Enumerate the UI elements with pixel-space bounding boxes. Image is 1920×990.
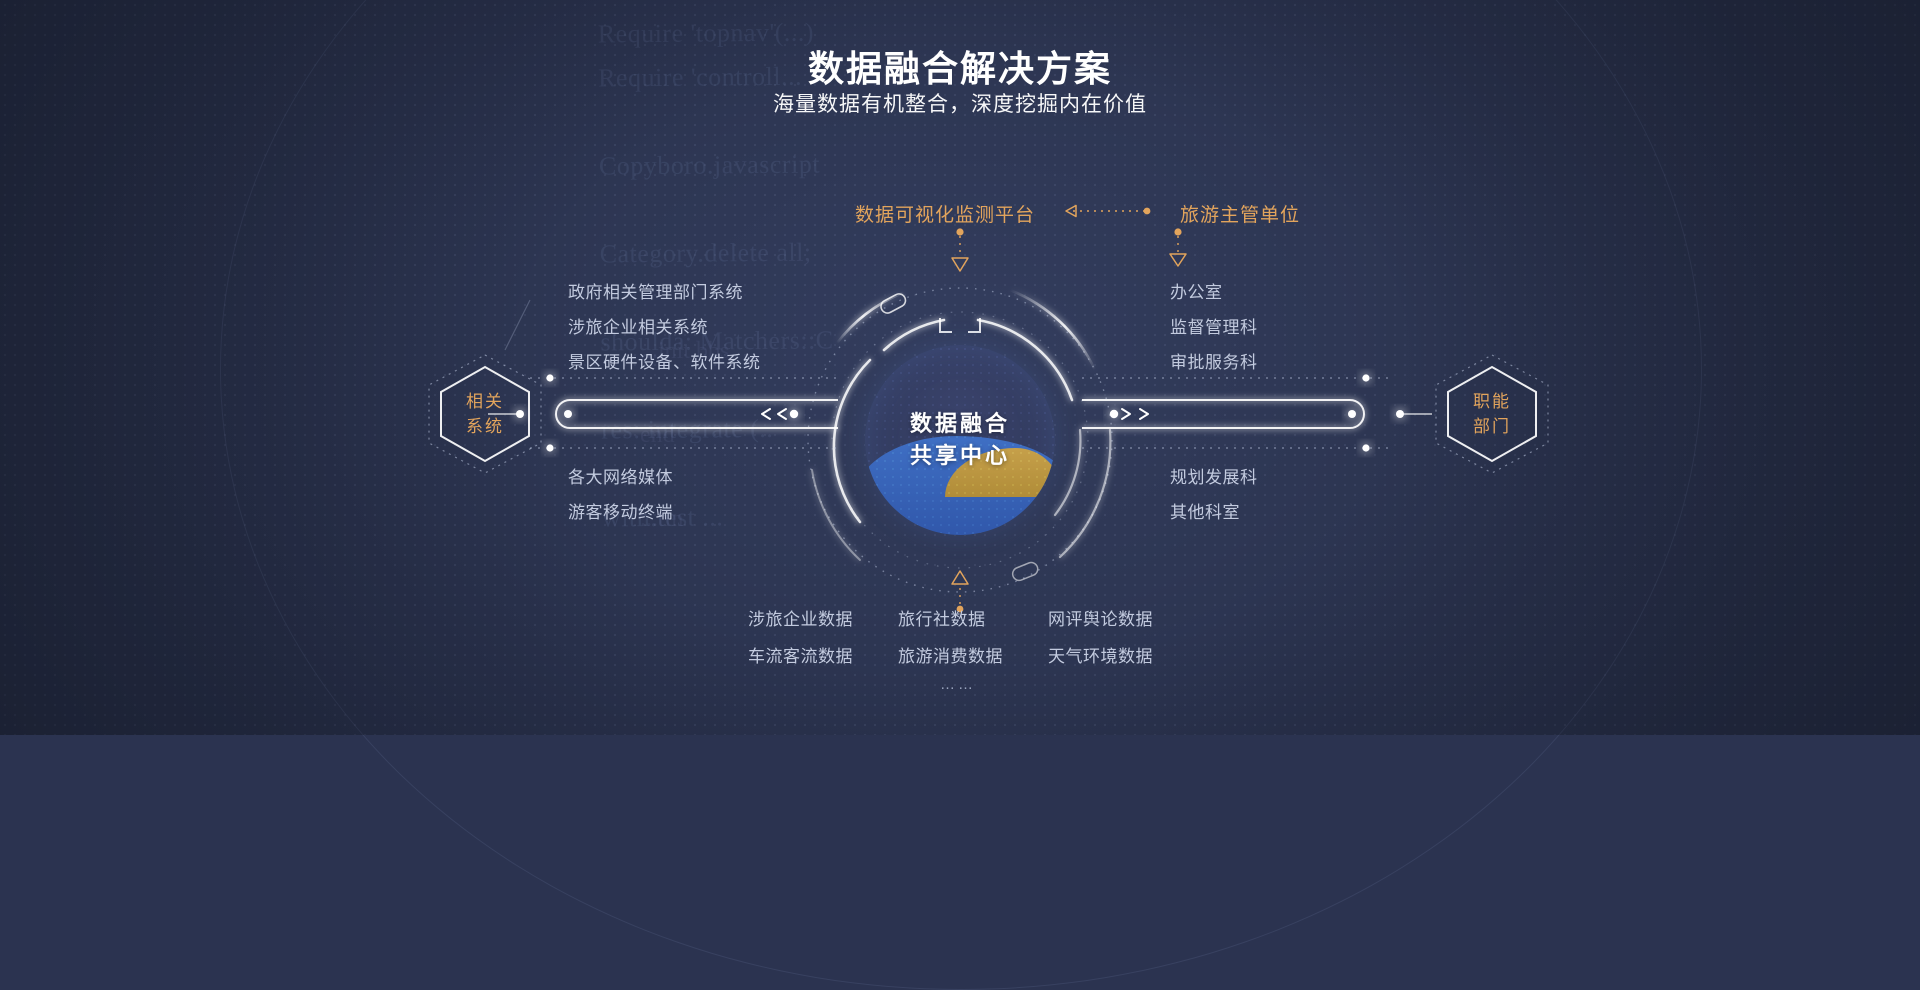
label-right-dept-2: 审批服务科 bbox=[1170, 348, 1258, 373]
label-left-source-2: 景区硬件设备、软件系统 bbox=[568, 348, 761, 373]
core-label-line1: 数据融合 bbox=[910, 408, 1010, 440]
node-label-line1: 职能 bbox=[1473, 389, 1511, 414]
label-bottom-data-r2c1: 旅游消费数据 bbox=[898, 642, 1003, 667]
label-left-source-4: 游客移动终端 bbox=[568, 498, 673, 523]
label-right-dept-4: 其他科室 bbox=[1170, 498, 1240, 523]
label-visualization-platform[interactable]: 数据可视化监测平台 bbox=[855, 200, 1035, 227]
label-right-dept-0: 办公室 bbox=[1170, 278, 1223, 303]
node-label-line2: 部门 bbox=[1473, 414, 1511, 439]
page-title: 数据融合解决方案 bbox=[0, 40, 1920, 92]
node-label-line2: 系统 bbox=[466, 414, 504, 439]
node-label-line1: 相关 bbox=[466, 389, 504, 414]
core-label: 数据融合 共享中心 bbox=[865, 345, 1055, 535]
label-bottom-data-r1c0: 涉旅企业数据 bbox=[748, 605, 853, 630]
label-left-source-1: 涉旅企业相关系统 bbox=[568, 313, 708, 338]
page-subtitle: 海量数据有机整合，深度挖掘内在价值 bbox=[0, 88, 1920, 118]
label-bottom-data-r1c1: 旅行社数据 bbox=[898, 605, 986, 630]
label-tourism-authority[interactable]: 旅游主管单位 bbox=[1180, 200, 1300, 227]
label-bottom-data-r2c2: 天气环境数据 bbox=[1048, 642, 1153, 667]
label-left-source-3: 各大网络媒体 bbox=[568, 463, 673, 488]
label-right-dept-3: 规划发展科 bbox=[1170, 463, 1258, 488]
label-left-source-0: 政府相关管理部门系统 bbox=[568, 278, 743, 303]
core-data-fusion-hub[interactable]: 数据融合 共享中心 bbox=[865, 345, 1055, 535]
label-bottom-data-r2c0: 车流客流数据 bbox=[748, 642, 853, 667]
node-functional-departments-label: 职能 部门 bbox=[1432, 353, 1552, 475]
core-label-line2: 共享中心 bbox=[910, 440, 1010, 472]
label-right-dept-1: 监督管理科 bbox=[1170, 313, 1258, 338]
node-related-systems-label: 相关 系统 bbox=[425, 353, 545, 475]
node-functional-departments[interactable]: 职能 部门 bbox=[1432, 353, 1552, 475]
label-bottom-data-r1c2: 网评舆论数据 bbox=[1048, 605, 1153, 630]
label-bottom-data-more: …… bbox=[940, 676, 976, 693]
node-related-systems[interactable]: 相关 系统 bbox=[425, 353, 545, 475]
